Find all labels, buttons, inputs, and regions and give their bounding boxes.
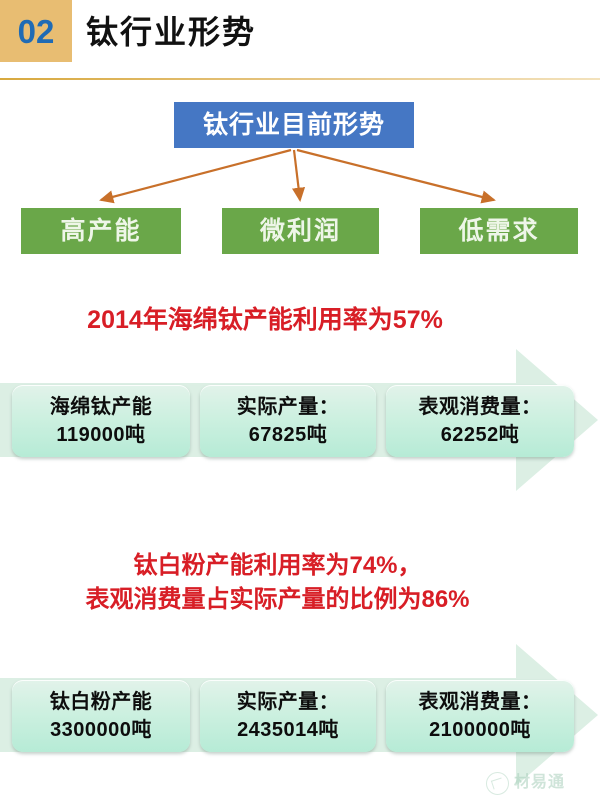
metric-value: 119000吨 [56, 421, 145, 449]
page-header: 02 钛行业形势 [0, 0, 600, 80]
metric-title: 表观消费量： [419, 688, 542, 716]
metric-title: 表观消费量： [419, 393, 542, 421]
metric-value: 3300000吨 [50, 716, 152, 744]
metric-box-output: 实际产量： 67825吨 [200, 385, 376, 457]
arrow-band-sponge-titanium: 海绵钛产能 119000吨 实际产量： 67825吨 表观消费量： 62252吨 [0, 345, 600, 495]
metric-box-capacity: 海绵钛产能 119000吨 [12, 385, 190, 457]
section-caption-sponge-titanium: 2014年海绵钛产能利用率为57% [0, 305, 530, 335]
metric-box-consumption: 表观消费量： 62252吨 [386, 385, 574, 457]
arrow-band-titanium-dioxide: 钛白粉产能 3300000吨 实际产量： 2435014吨 表观消费量： 210… [0, 640, 600, 790]
flow-diagram: 钛行业目前形势 高产能 微利润 低需求 [0, 92, 600, 267]
wechat-circle-icon [486, 772, 509, 795]
flow-arrow-right [297, 150, 494, 200]
flow-leaf-node-high-capacity: 高产能 [21, 208, 181, 254]
metric-box-consumption: 表观消费量： 2100000吨 [386, 680, 574, 752]
metric-value: 67825吨 [249, 421, 328, 449]
metric-title: 实际产量： [237, 393, 340, 421]
flow-leaf-label: 高产能 [60, 219, 141, 244]
metric-value: 2100000吨 [429, 716, 531, 744]
metric-title: 钛白粉产能 [50, 688, 153, 716]
flow-arrow-left [101, 150, 291, 200]
metric-box-output: 实际产量： 2435014吨 [200, 680, 376, 752]
section-number: 02 [18, 15, 55, 48]
metric-box-capacity: 钛白粉产能 3300000吨 [12, 680, 190, 752]
metric-title: 实际产量： [237, 688, 340, 716]
flow-arrow-middle [294, 150, 300, 200]
page-title: 钛行业形势 [86, 8, 256, 56]
band-box-row: 钛白粉产能 3300000吨 实际产量： 2435014吨 表观消费量： 210… [0, 680, 600, 752]
metric-value: 2435014吨 [237, 716, 339, 744]
watermark: 材易通 [486, 770, 591, 796]
metric-title: 海绵钛产能 [50, 393, 153, 421]
section-caption-titanium-dioxide: 钛白粉产能利用率为74%， 表观消费量占实际产量的比例为86% [0, 549, 555, 617]
watermark-text: 材易通 [514, 775, 565, 791]
metric-value: 62252吨 [441, 421, 520, 449]
flow-leaf-node-thin-profit: 微利润 [222, 208, 379, 254]
band-box-row: 海绵钛产能 119000吨 实际产量： 67825吨 表观消费量： 62252吨 [0, 385, 600, 457]
flow-leaf-label: 微利润 [260, 219, 341, 244]
flow-leaf-node-low-demand: 低需求 [420, 208, 578, 254]
flow-leaf-label: 低需求 [458, 219, 539, 244]
header-divider [0, 78, 600, 80]
section-number-badge: 02 [0, 0, 72, 62]
